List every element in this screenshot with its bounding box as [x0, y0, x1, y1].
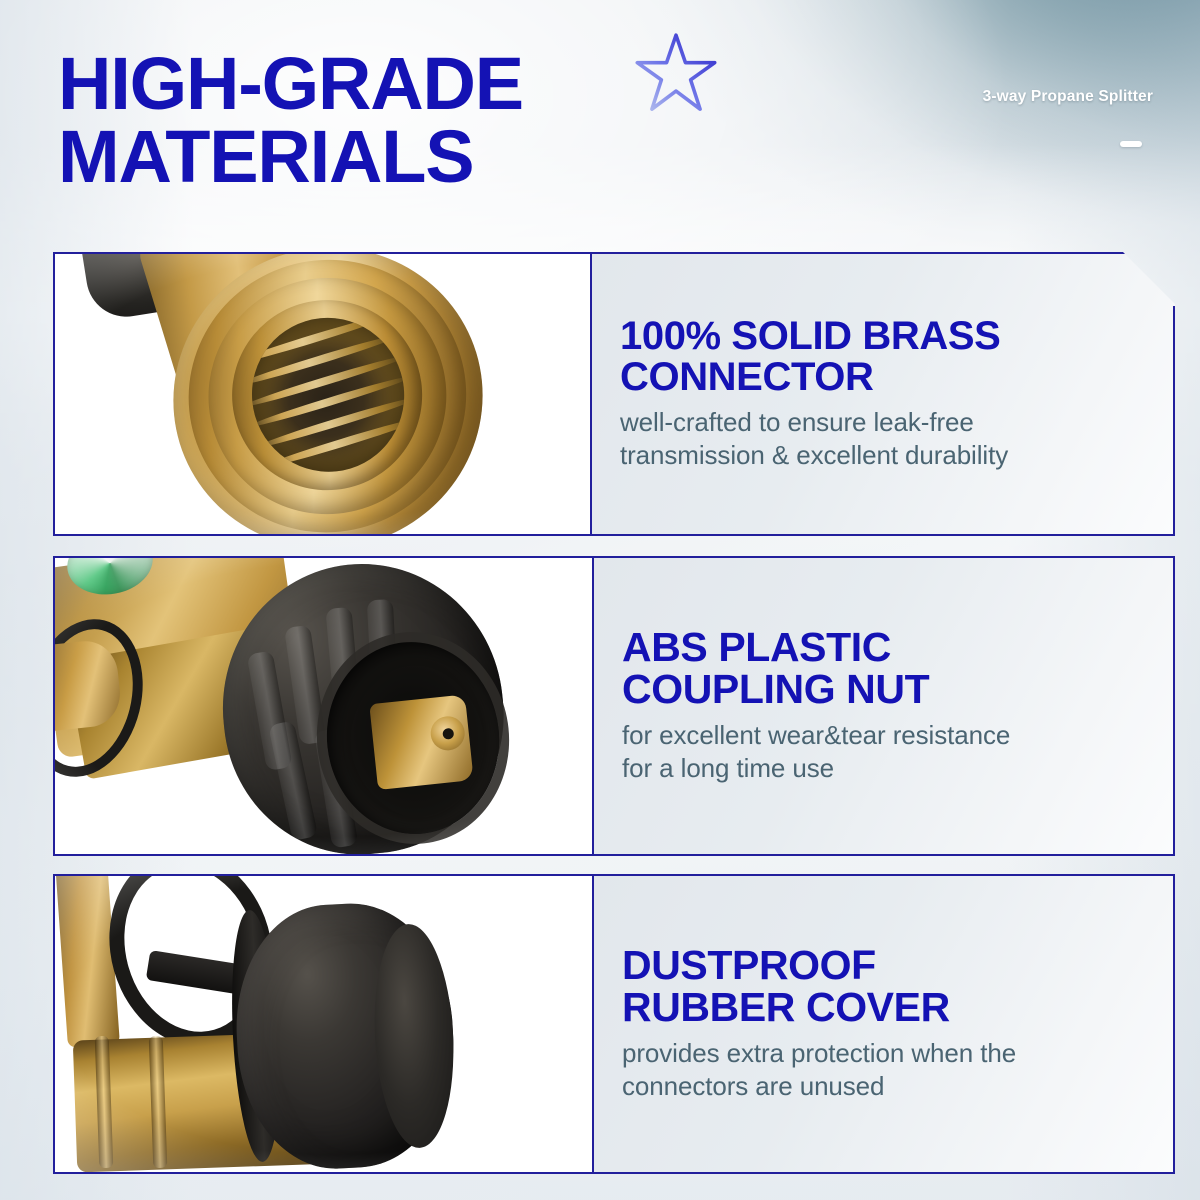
feature-text-coupling-nut: ABS PLASTIC COUPLING NUT for excellent w…: [592, 558, 1173, 854]
product-name-label: 3-way Propane Splitter: [983, 88, 1153, 106]
feature-title: ABS PLASTIC COUPLING NUT: [622, 627, 1139, 711]
feature-description: for excellent wear&tear resistance for a…: [622, 719, 1139, 785]
feature-text-dust-cover: DUSTPROOF RUBBER COVER provides extra pr…: [592, 876, 1173, 1172]
infographic-page: HIGH-GRADE MATERIALS 3-way Propane Split…: [0, 0, 1200, 1200]
feature-card-coupling-nut: ABS PLASTIC COUPLING NUT for excellent w…: [53, 556, 1175, 856]
feature-title: DUSTPROOF RUBBER COVER: [622, 945, 1139, 1029]
rubber-dust-cover-photo: [55, 876, 592, 1172]
brass-ring-stack: [136, 252, 520, 536]
feature-description: provides extra protection when the conne…: [622, 1037, 1139, 1103]
feature-title: 100% SOLID BRASS CONNECTOR: [620, 316, 1141, 398]
feature-text-brass-connector: 100% SOLID BRASS CONNECTOR well-crafted …: [590, 252, 1175, 536]
vertical-brass-port: [55, 876, 120, 1048]
page-title: HIGH-GRADE MATERIALS: [58, 48, 758, 193]
brass-threaded-connector-photo: [53, 252, 590, 536]
product-name-underline-dash: [1120, 141, 1142, 147]
feature-card-brass-connector: 100% SOLID BRASS CONNECTOR well-crafted …: [53, 252, 1175, 536]
black-coupling-nut-photo: [55, 558, 592, 854]
feature-description: well-crafted to ensure leak-free transmi…: [620, 406, 1141, 472]
feature-card-dust-cover: DUSTPROOF RUBBER COVER provides extra pr…: [53, 874, 1175, 1174]
